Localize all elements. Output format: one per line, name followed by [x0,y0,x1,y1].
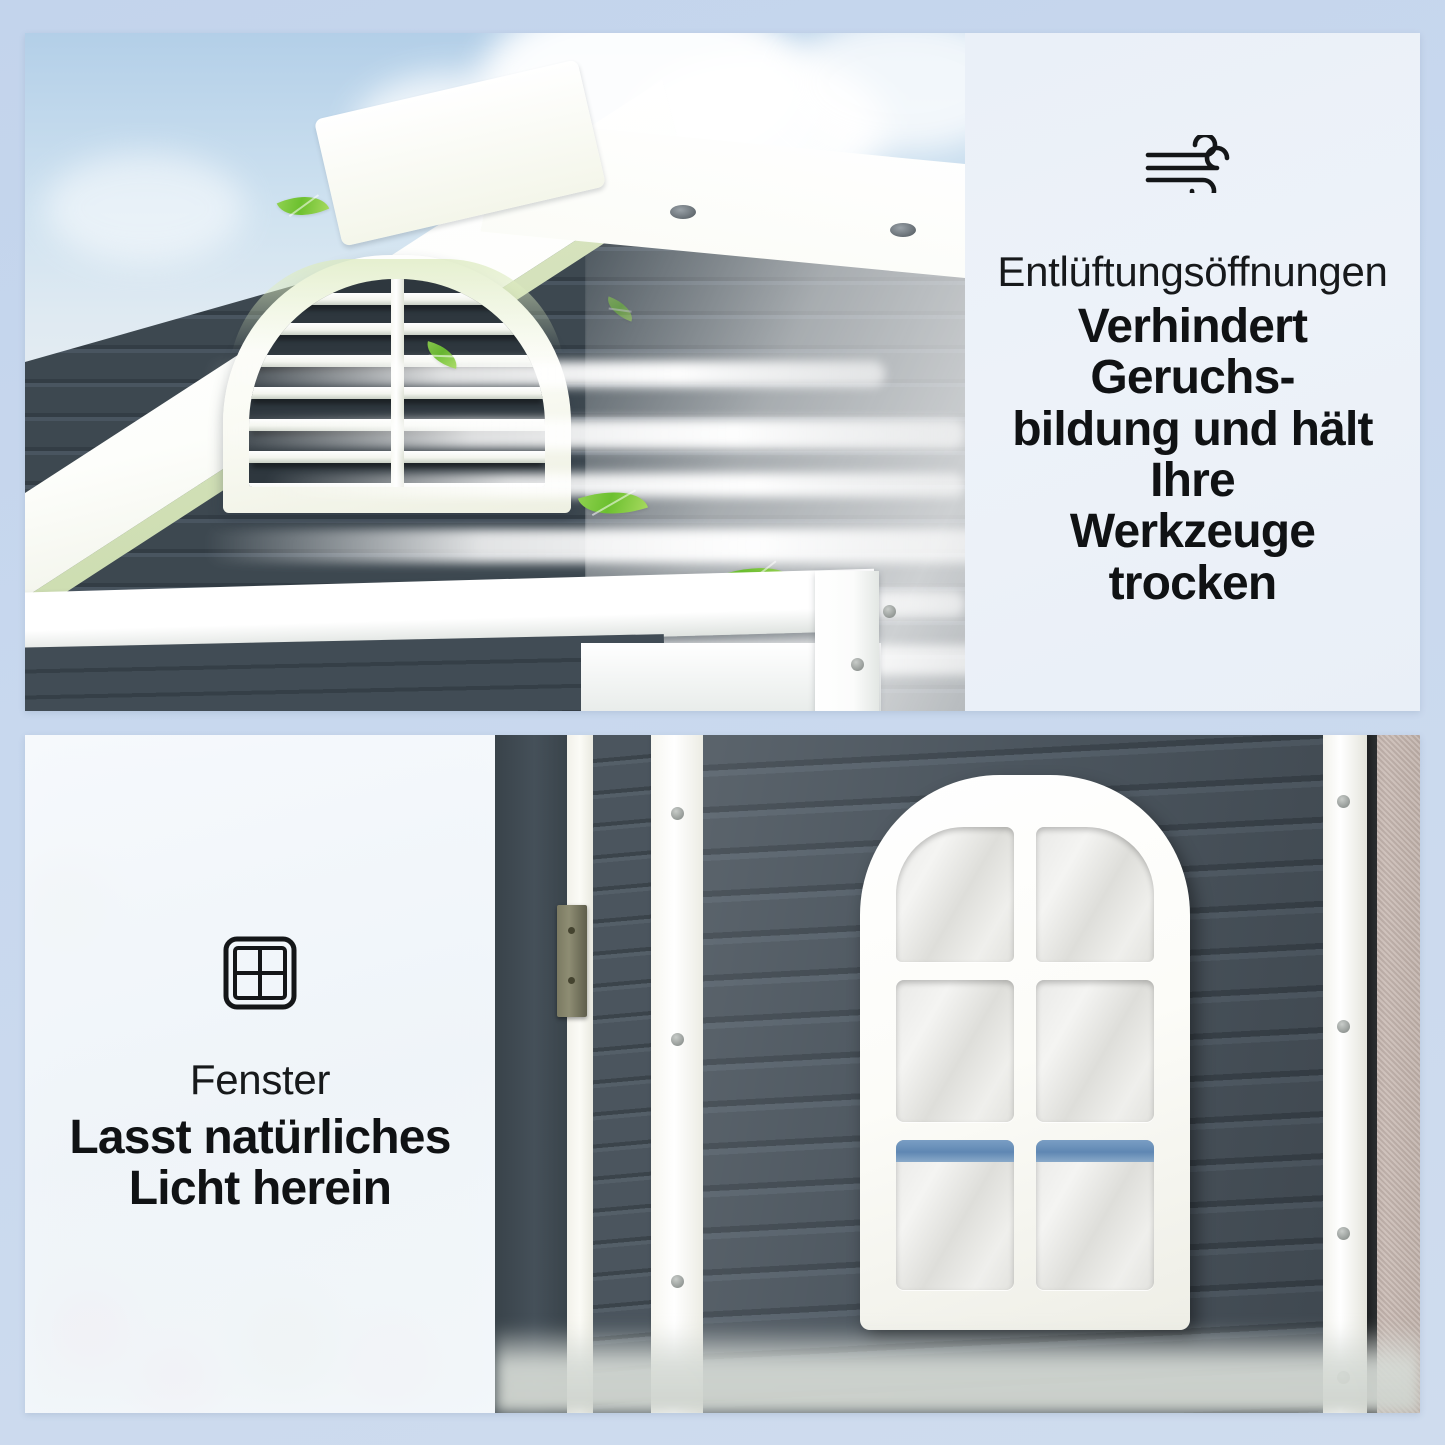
shed-corner-post-right [1323,735,1367,1413]
window-pane-reflection [1036,1140,1154,1162]
shed-door-edge [495,735,567,1413]
headline-line: Werkzeuge trocken [987,506,1398,609]
wall-shadow-gap [1367,735,1377,1413]
shed-door-gap [567,735,593,1413]
feature-text-ventilation: Entlüftungsöffnungen Verhindert Geruchs-… [965,33,1420,711]
photo-shed-window [495,735,1420,1413]
shed-corner-post [815,571,879,711]
headline-line: Verhindert Geruchs- [987,301,1398,404]
ground-blur [495,1325,1420,1413]
screw-icon [671,1033,684,1046]
feature-headline-ventilation: Verhindert Geruchs- bildung und hält Ihr… [987,301,1398,609]
window-pane [896,1140,1014,1290]
door-hinge-icon [557,905,587,1017]
vent-center-mullion [391,279,404,487]
feature-headline-window: Lasst natürliches Licht herein [69,1112,450,1215]
leaf-icon [277,185,330,227]
shed-wall-strip [593,735,651,1413]
screw-icon [1337,1227,1350,1240]
headline-line: Licht herein [69,1163,450,1214]
screw-icon [883,605,896,618]
shed-corner-post-left [651,735,703,1413]
window-pane [1036,980,1154,1122]
screw-icon [1337,795,1350,808]
feature-text-window: Fenster Lasst natürliches Licht herein [25,735,495,1413]
window-grid-icon [221,934,299,1012]
window-pane [896,980,1014,1122]
louver-vent [223,255,571,513]
window-pane [896,827,1014,962]
shed-wall-lower [25,634,666,711]
feature-kicker-window: Fenster [190,1056,330,1104]
screw-icon [671,807,684,820]
screw-icon [671,1275,684,1288]
shed-window-assembly [860,775,1190,1330]
headline-line: bildung und hält Ihre [987,404,1398,507]
feature-card-window: Fenster Lasst natürliches Licht herein [25,735,1420,1413]
window-pane [1036,1140,1154,1290]
feature-card-ventilation: Entlüftungsöffnungen Verhindert Geruchs-… [25,33,1420,711]
wind-icon [1145,135,1241,193]
feature-kicker-ventilation: Entlüftungsöffnungen [997,249,1387,295]
window-pane-reflection [896,1140,1014,1162]
screw-icon [1337,1020,1350,1033]
roof-screw-cap-icon [890,223,916,237]
screw-icon [851,658,864,671]
roof-screw-cap-icon [670,205,696,219]
photo-ventilation-louver [25,33,965,711]
cloud-shape [45,153,245,263]
headline-line: Lasst natürliches [69,1112,450,1163]
